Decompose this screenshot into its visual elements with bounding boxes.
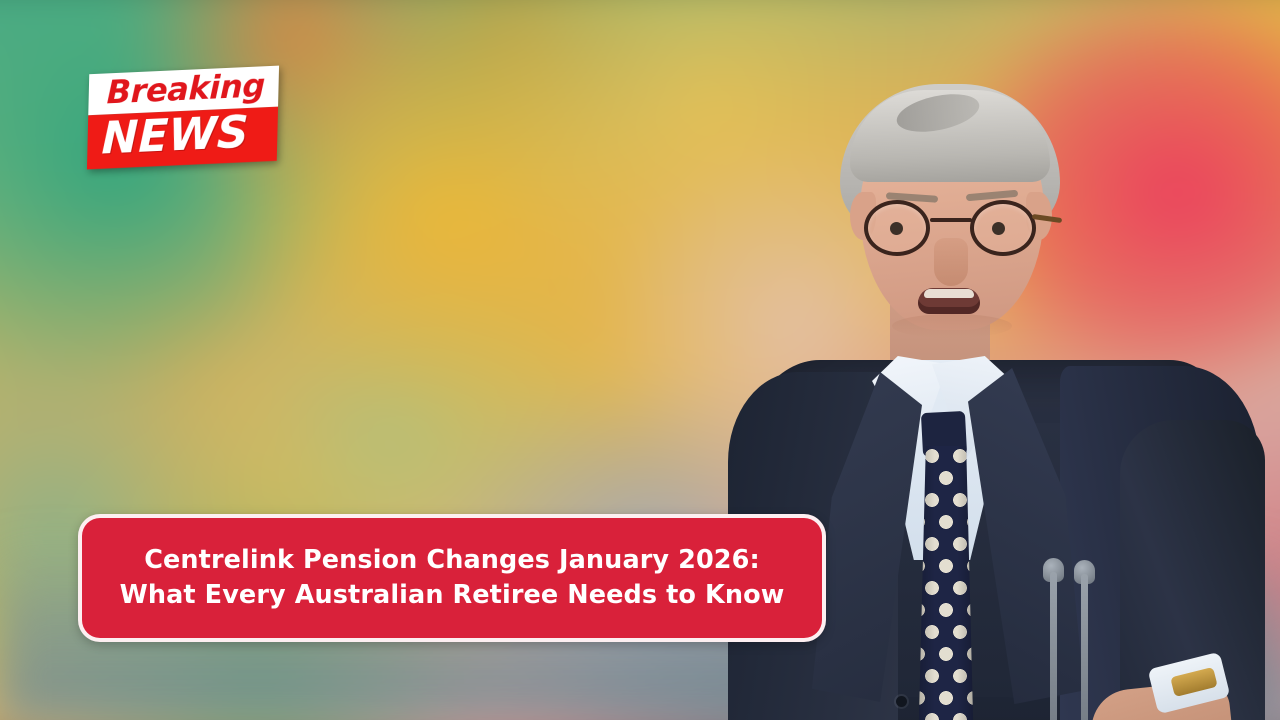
microphone-stand-2: [1081, 574, 1088, 720]
chin-shading: [892, 314, 1012, 338]
necktie-shading: [918, 446, 974, 720]
headline-text: Centrelink Pension Changes January 2026:…: [108, 543, 796, 613]
headline-banner: Centrelink Pension Changes January 2026:…: [78, 514, 826, 642]
breaking-label: Breaking: [106, 69, 265, 110]
necktie: [918, 446, 974, 720]
suit-button: [896, 696, 907, 707]
eye-right: [992, 222, 1005, 235]
breaking-news-badge: Breaking NEWS: [87, 66, 279, 169]
news-label: NEWS: [101, 109, 262, 162]
teeth: [924, 289, 974, 298]
hair: [850, 90, 1050, 182]
microphone-stand-1: [1050, 572, 1057, 720]
eyeglass-bridge: [930, 218, 972, 222]
eye-left: [890, 222, 903, 235]
news-label-bar: NEWS: [87, 107, 278, 169]
nose: [934, 238, 968, 286]
news-graphic-canvas: Breaking NEWS Centrelink Pension Changes…: [0, 0, 1280, 720]
hair-part: [893, 88, 982, 139]
head: [846, 88, 1054, 338]
